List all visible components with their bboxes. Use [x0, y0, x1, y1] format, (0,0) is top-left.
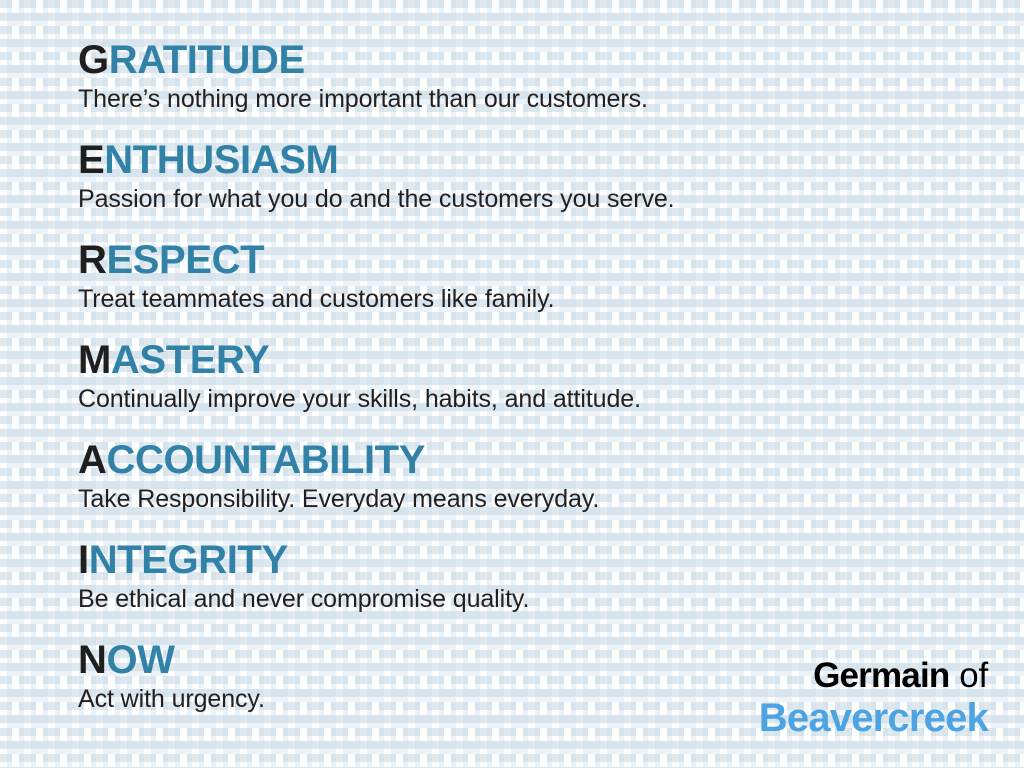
value-subtitle: Treat teammates and customers like famil… — [78, 282, 555, 314]
value-subtitle: Take Responsibility. Everyday means ever… — [78, 482, 599, 514]
value-block-enthusiasm: ENTHUSIASM Passion for what you do and t… — [78, 138, 675, 214]
value-rest: CCOUNTABILITY — [107, 438, 425, 482]
value-initial: I — [78, 538, 89, 582]
dealership-logo: Germain of Beavercreek — [759, 656, 988, 740]
value-subtitle: Passion for what you do and the customer… — [78, 182, 675, 214]
value-block-accountability: ACCOUNTABILITY Take Responsibility. Ever… — [78, 438, 599, 514]
value-rest: NTEGRITY — [89, 538, 288, 582]
value-initial: R — [78, 238, 107, 282]
value-heading: INTEGRITY — [78, 538, 529, 582]
value-block-mastery: MASTERY Continually improve your skills,… — [78, 338, 641, 414]
logo-connector: of — [959, 656, 988, 695]
value-subtitle: Act with urgency. — [78, 682, 265, 714]
value-heading: ENTHUSIASM — [78, 138, 675, 182]
logo-top-line: Germain of — [759, 656, 988, 696]
value-initial: M — [78, 338, 111, 382]
value-heading: ACCOUNTABILITY — [78, 438, 599, 482]
value-heading: NOW — [78, 638, 265, 682]
value-block-now: NOW Act with urgency. — [78, 638, 265, 714]
values-poster: GRATITUDE There’s nothing more important… — [0, 0, 1024, 768]
value-subtitle: Continually improve your skills, habits,… — [78, 382, 641, 414]
logo-brand-name: Germain — [813, 656, 949, 695]
value-initial: E — [78, 138, 104, 182]
value-heading: RESPECT — [78, 238, 555, 282]
value-rest: OW — [107, 638, 175, 682]
value-block-integrity: INTEGRITY Be ethical and never compromis… — [78, 538, 529, 614]
value-subtitle: Be ethical and never compromise quality. — [78, 582, 529, 614]
value-rest: ASTERY — [111, 338, 269, 382]
value-heading: GRATITUDE — [78, 38, 648, 82]
logo-location: Beavercreek — [759, 696, 988, 740]
value-block-gratitude: GRATITUDE There’s nothing more important… — [78, 38, 648, 114]
value-subtitle: There’s nothing more important than our … — [78, 82, 648, 114]
value-rest: NTHUSIASM — [104, 138, 338, 182]
value-initial: A — [78, 438, 107, 482]
value-heading: MASTERY — [78, 338, 641, 382]
value-rest: RATITUDE — [109, 38, 305, 82]
value-rest: ESPECT — [107, 238, 265, 282]
value-initial: N — [78, 638, 107, 682]
value-initial: G — [78, 38, 109, 82]
value-block-respect: RESPECT Treat teammates and customers li… — [78, 238, 555, 314]
